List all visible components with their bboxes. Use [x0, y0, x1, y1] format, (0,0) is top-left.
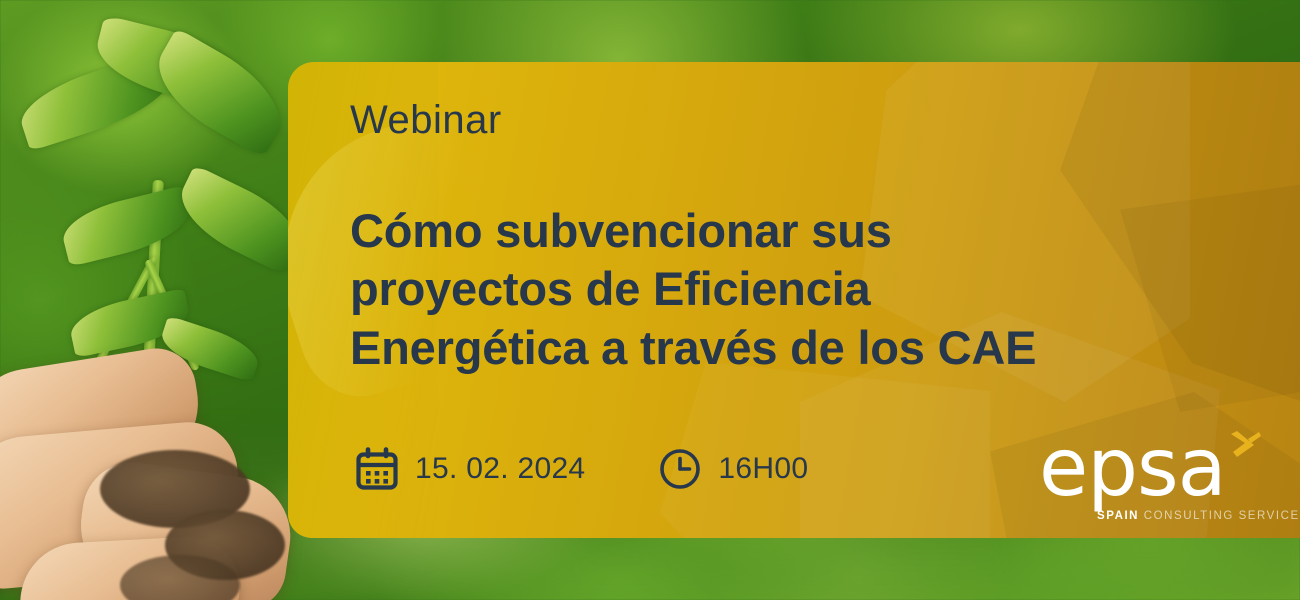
event-date-text: 15. 02. 2024 [415, 452, 585, 486]
epsa-logo: epsa SPAIN CONSULTING SERVICES [1039, 428, 1254, 520]
kicker-label: Webinar [350, 100, 502, 140]
calendar-icon [354, 446, 400, 492]
event-time-text: 16H00 [718, 452, 808, 486]
title-line-3: Energética a través de los CAE [350, 319, 1230, 377]
chevron-arrow-mark-icon [1228, 430, 1262, 460]
event-meta-row: 15. 02. 2024 16H00 [354, 446, 808, 492]
epsa-tagline: SPAIN CONSULTING SERVICES [1097, 510, 1300, 522]
gold-content-panel: Webinar Cómo subvencionar sus proyectos … [288, 62, 1300, 538]
event-time: 16H00 [657, 446, 808, 492]
hands-holding-soil-graphic [0, 350, 300, 600]
epsa-tagline-bold: SPAIN [1097, 510, 1139, 522]
epsa-wordmark: epsa [1039, 428, 1226, 508]
webinar-title: Cómo subvencionar sus proyectos de Efici… [350, 202, 1230, 377]
event-date: 15. 02. 2024 [354, 446, 585, 492]
title-line-2: proyectos de Eficiencia [350, 260, 1230, 318]
clock-icon [657, 446, 703, 492]
epsa-tagline-light: CONSULTING SERVICES [1139, 510, 1300, 522]
title-line-1: Cómo subvencionar sus [350, 202, 1230, 260]
panel-content: Webinar Cómo subvencionar sus proyectos … [350, 62, 1280, 538]
webinar-banner: Webinar Cómo subvencionar sus proyectos … [0, 0, 1300, 600]
